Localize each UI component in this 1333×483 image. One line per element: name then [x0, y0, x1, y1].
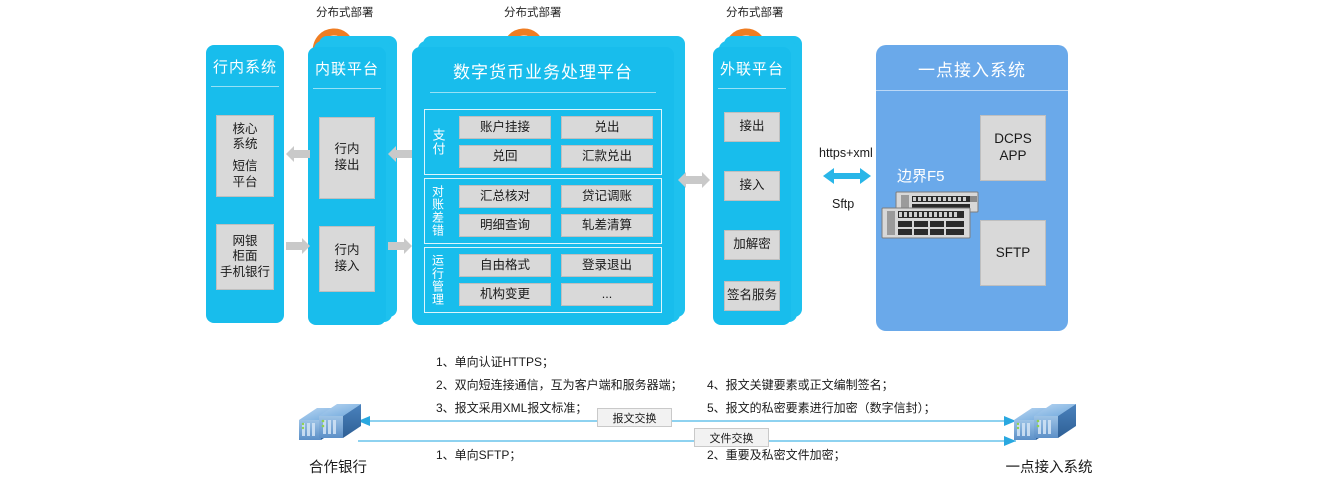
box-line: 行内	[334, 142, 359, 158]
title-divider	[211, 86, 278, 87]
box-line: 手机银行	[220, 265, 270, 281]
title-divider	[313, 88, 380, 89]
box-external-inbound: 接入	[724, 171, 780, 201]
box-free-format: 自由格式	[459, 254, 551, 277]
note-left-1: 1、单向认证HTTPS；	[436, 353, 554, 370]
box-dcps-app: DCPS APP	[980, 115, 1046, 181]
box-line: 系统	[232, 137, 257, 153]
box-line: 网银	[232, 234, 257, 250]
network-switch-icon	[874, 190, 984, 242]
box-more: ...	[561, 283, 653, 306]
group-operations: 运行管理 自由格式 登录退出 机构变更 ...	[424, 247, 662, 313]
label-box-file-exchange: 文件交换	[694, 428, 769, 447]
box-encryption-decryption: 加解密	[724, 230, 780, 260]
box-account-link: 账户挂接	[459, 116, 551, 139]
box-detail-query: 明细查询	[459, 214, 551, 237]
box-line: 短信	[232, 159, 257, 175]
box-org-change: 机构变更	[459, 283, 551, 306]
box-login-logout: 登录退出	[561, 254, 653, 277]
panel-title-dcep: 数字货币业务处理平台	[412, 47, 674, 92]
box-intranet-inbound: 行内 接入	[319, 226, 375, 292]
box-line: 行内	[334, 243, 359, 259]
group-payment: 支付 账户挂接 兑出 兑回 汇款兑出	[424, 109, 662, 175]
box-core-system: 核心 系统 短信 平台	[216, 115, 274, 197]
label-box-message-exchange: 报文交换	[597, 408, 672, 427]
arrow-outbound-to-core	[286, 146, 310, 162]
label-border-f5: 边界F5	[897, 165, 945, 186]
panel-title-bank-internal: 行内系统	[206, 45, 284, 86]
box-credit-adjust: 贷记调账	[561, 185, 653, 208]
arrow-external-to-access-bidirectional	[823, 167, 871, 185]
server-icon-single-access	[1008, 398, 1080, 452]
box-line: 接出	[334, 158, 359, 174]
architecture-diagram: 分布式部署 分布式部署 分布式部署 行内系统 核心 系统 短信 平台 网银 柜面…	[0, 0, 1333, 483]
panel-intranet-platform: 内联平台 行内 接出 行内 接入	[308, 47, 386, 325]
box-netting-settlement: 轧差清算	[561, 214, 653, 237]
panel-bank-internal-system: 行内系统 核心 系统 短信 平台 网银 柜面 手机银行	[206, 45, 284, 323]
panel-single-access-system: 一点接入系统 边界F5	[876, 45, 1068, 331]
box-ebank-counter-mobile: 网银 柜面 手机银行	[216, 224, 274, 290]
box-line: DCPS	[994, 131, 1032, 148]
exchange-connector-lines	[340, 410, 1040, 450]
arrow-intranet-in-to-dcep	[388, 238, 412, 254]
title-divider	[430, 92, 655, 93]
title-divider	[718, 88, 785, 89]
title-divider	[876, 90, 1068, 91]
arrow-dcep-to-intranet-out	[388, 146, 412, 162]
group-label-payment: 支付	[425, 128, 451, 156]
group-label-operations: 运行管理	[425, 254, 451, 306]
box-line: APP	[999, 148, 1026, 165]
note-right-4: 4、报文关键要素或正文编制签名；	[707, 376, 894, 393]
box-external-outbound: 接出	[724, 112, 780, 142]
panel-external-platform: 外联平台 接出 接入 加解密 签名服务	[713, 47, 791, 325]
server-label-single-access: 一点接入系统	[994, 456, 1104, 477]
panel-dcep-platform: 数字货币业务处理平台 支付 账户挂接 兑出 兑回 汇款兑出 对账差错 汇总核对 …	[412, 47, 674, 325]
panel-title-intranet: 内联平台	[308, 47, 386, 88]
arrow-ebank-to-inbound	[286, 238, 310, 254]
box-line: 接入	[334, 259, 359, 275]
box-line: 核心	[232, 122, 257, 138]
box-intranet-outbound: 行内 接出	[319, 117, 375, 199]
box-remittance-out: 汇款兑出	[561, 145, 653, 168]
box-summary-check: 汇总核对	[459, 185, 551, 208]
server-icon-partner-bank	[293, 398, 365, 452]
box-signature-service: 签名服务	[724, 281, 780, 311]
box-exchange-back: 兑回	[459, 145, 551, 168]
panel-title-single-access: 一点接入系统	[876, 45, 1068, 90]
label-sftp-link: Sftp	[832, 197, 854, 211]
server-label-partner-bank: 合作银行	[288, 456, 388, 477]
box-sftp: SFTP	[980, 220, 1046, 286]
arrow-dcep-external-bidirectional	[678, 172, 710, 188]
group-reconciliation: 对账差错 汇总核对 贷记调账 明细查询 轧差清算	[424, 178, 662, 244]
panel-title-external: 外联平台	[713, 47, 791, 88]
group-label-reconciliation: 对账差错	[425, 185, 451, 237]
box-line: 平台	[232, 175, 257, 191]
note-left-2: 2、双向短连接通信，互为客户端和服务器端；	[436, 376, 683, 393]
box-line: 柜面	[232, 249, 257, 265]
box-exchange-out: 兑出	[561, 116, 653, 139]
label-https-xml: https+xml	[819, 146, 873, 160]
